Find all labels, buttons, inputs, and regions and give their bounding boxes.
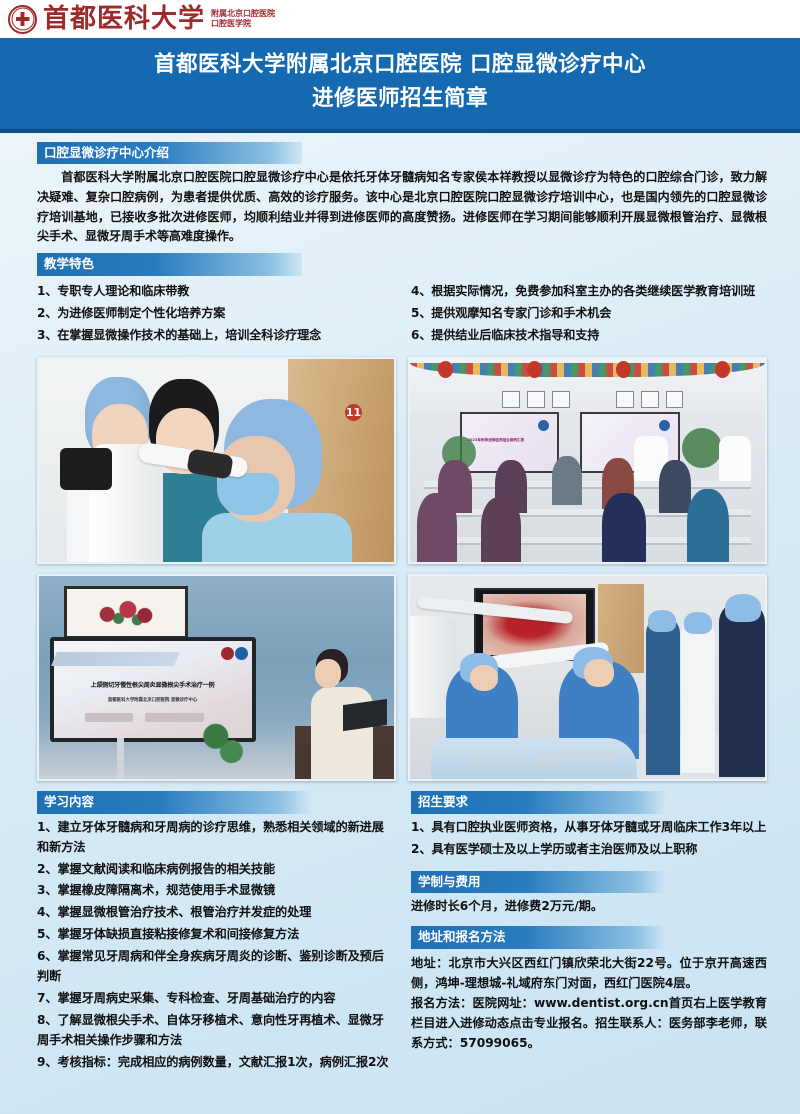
address-text: 地址：北京市大兴区西红门镇欣荣北大街22号。位于京开高速西侧，鸿坤-理想城-礼域… bbox=[411, 953, 767, 993]
photo-microsurgery-observation bbox=[408, 574, 767, 781]
learning-item: 3、掌握橡皮障隔离术，规范使用手术显微镜 bbox=[37, 881, 393, 901]
features-columns: 1、专职专人理论和临床带教 2、为进修医师制定个性化培养方案 3、在掌握显微操作… bbox=[37, 282, 767, 348]
feature-item: 6、提供结业后临床技术指导和支持 bbox=[411, 326, 767, 345]
tuition-text: 进修时长6个月，进修费2万元/期。 bbox=[411, 897, 767, 917]
feature-item: 5、提供观摩知名专家门诊和手术机会 bbox=[411, 304, 767, 323]
title-banner: 首都医科大学附属北京口腔医院 口腔显微诊疗中心 进修医师招生简章 bbox=[0, 38, 800, 133]
feature-item: 2、为进修医师制定个性化培养方案 bbox=[37, 304, 393, 323]
university-seal-icon bbox=[8, 5, 37, 34]
learning-column: 学习内容 1、建立牙体牙髓病和牙周病的诊疗思维，熟悉相关领域的新进展和新方法 2… bbox=[37, 791, 393, 1075]
university-name: 首都医科大学 bbox=[43, 6, 205, 32]
learning-item: 7、掌握牙周病史采集、专科检查、牙周基础治疗的内容 bbox=[37, 989, 393, 1009]
section-heading-learning: 学习内容 bbox=[37, 791, 311, 814]
features-left-column: 1、专职专人理论和临床带教 2、为进修医师制定个性化培养方案 3、在掌握显微操作… bbox=[37, 282, 393, 348]
photo-classroom-lecture: 2023年秋季进修医师结业病例汇报 bbox=[408, 357, 767, 564]
features-right-column: 4、根据实际情况，免费参加科室主办的各类继续医学教育培训班 5、提供观摩知名专家… bbox=[411, 282, 767, 348]
slide-subtitle: 首都医科大学附属北京口腔医院 显微诊疗中心 bbox=[62, 697, 244, 703]
section-heading-features: 教学特色 bbox=[37, 253, 302, 276]
learning-item: 6、掌握常见牙周病和伴全身疾病牙周炎的诊断、鉴别诊断及预后判断 bbox=[37, 947, 393, 987]
learning-item: 8、了解显微根尖手术、自体牙移植术、意向性牙再植术、显微牙周手术相关操作步骤和方… bbox=[37, 1011, 393, 1051]
learning-item: 5、掌握牙体缺损直接粘接修复术和间接修复方法 bbox=[37, 925, 393, 945]
requirement-item: 2、具有医学硕士及以上学历或者主治医师及以上职称 bbox=[411, 840, 767, 860]
brand-header: 首都医科大学 附属北京口腔医院 口腔医学院 bbox=[0, 0, 800, 38]
learning-item: 1、建立牙体牙髓病和牙周病的诊疗思维，熟悉相关领域的新进展和新方法 bbox=[37, 818, 393, 858]
section-heading-tuition: 学制与费用 bbox=[411, 871, 666, 894]
slide-title: 上颌侧切牙慢性根尖周炎显微根尖手术治疗一例 bbox=[62, 680, 244, 689]
feature-item: 4、根据实际情况，免费参加科室主办的各类继续医学教育培训班 bbox=[411, 282, 767, 301]
learning-item: 4、掌握显微根管治疗技术、根管治疗并发症的处理 bbox=[37, 903, 393, 923]
section-heading-intro: 口腔显微诊疗中心介绍 bbox=[37, 142, 302, 165]
photo-microscope-training: 11 bbox=[37, 357, 396, 564]
intro-paragraph: 首都医科大学附属北京口腔医院口腔显微诊疗中心是依托牙体牙髓病知名专家侯本祥教授以… bbox=[37, 168, 767, 246]
university-subname: 附属北京口腔医院 口腔医学院 bbox=[211, 9, 275, 29]
registration-text: 报名方法：医院网址：www.dentist.org.cn首页右上医学教育栏目进入… bbox=[411, 993, 767, 1053]
university-subname-line2: 口腔医学院 bbox=[211, 19, 275, 29]
screen-text: 2023年秋季进修医师结业病例汇报 bbox=[467, 438, 524, 443]
feature-item: 1、专职专人理论和临床带教 bbox=[37, 282, 393, 301]
learning-item: 2、掌握文献阅读和临床病例报告的相关技能 bbox=[37, 860, 393, 880]
photo-gallery: 11 2023 bbox=[37, 357, 767, 781]
banner-title-line1: 首都医科大学附属北京口腔医院 口腔显微诊疗中心 bbox=[0, 49, 800, 81]
room-number-marker: 11 bbox=[345, 404, 362, 421]
section-heading-requirements: 招生要求 bbox=[411, 791, 666, 814]
admissions-column: 招生要求 1、具有口腔执业医师资格，从事牙体牙髓或牙周临床工作3年以上 2、具有… bbox=[411, 791, 767, 1075]
feature-item: 3、在掌握显微操作技术的基础上，培训全科诊疗理念 bbox=[37, 326, 393, 345]
section-heading-address: 地址和报名方法 bbox=[411, 926, 666, 949]
poster-content: 口腔显微诊疗中心介绍 首都医科大学附属北京口腔医院口腔显微诊疗中心是依托牙体牙髓… bbox=[0, 133, 800, 1075]
poster-page: 首都医科大学 附属北京口腔医院 口腔医学院 首都医科大学附属北京口腔医院 口腔显… bbox=[0, 0, 800, 1114]
lower-sections: 学习内容 1、建立牙体牙髓病和牙周病的诊疗思维，熟悉相关领域的新进展和新方法 2… bbox=[37, 791, 767, 1075]
learning-item: 9、考核指标：完成相应的病例数量，文献汇报1次，病例汇报2次 bbox=[37, 1053, 393, 1073]
university-subname-line1: 附属北京口腔医院 bbox=[211, 9, 275, 19]
photo-case-presentation: 上颌侧切牙慢性根尖周炎显微根尖手术治疗一例 首都医科大学附属北京口腔医院 显微诊… bbox=[37, 574, 396, 781]
requirement-item: 1、具有口腔执业医师资格，从事牙体牙髓或牙周临床工作3年以上 bbox=[411, 818, 767, 838]
banner-title-line2: 进修医师招生简章 bbox=[0, 83, 800, 115]
